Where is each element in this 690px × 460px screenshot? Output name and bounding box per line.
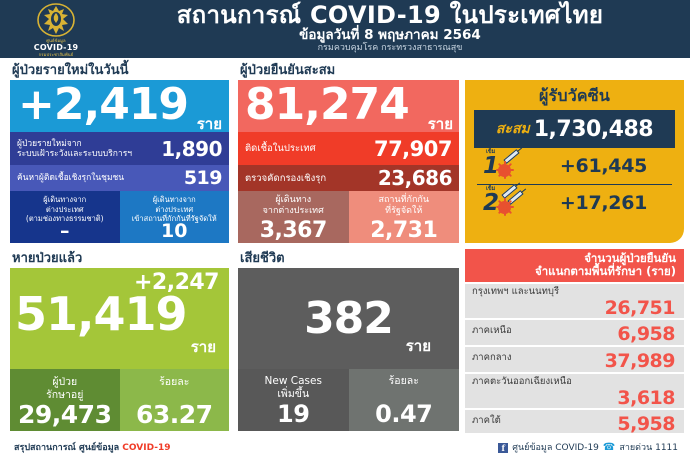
footer-facebook-text[interactable]: ศูนย์ข้อมูล COVID-19 xyxy=(512,442,599,454)
syringe-dose-2-icon: เข็ม 2 xyxy=(477,186,535,220)
new-cases-row-surveillance: ผู้ป่วยรายใหม่จาก ระบบเฝ้าระวังและระบบบร… xyxy=(10,132,229,165)
cumulative-cell-from-abroad-value: 3,367 xyxy=(238,220,349,242)
logo-line-2: COVID-19 xyxy=(34,43,78,52)
regional-breakdown-table: จำนวนผู้ป่วยยืนยัน จำแนกตามพื้นที่รักษา … xyxy=(465,249,684,433)
regional-table-header: จำนวนผู้ป่วยยืนยัน จำแนกตามพื้นที่รักษา … xyxy=(465,249,684,282)
table-row: ภาคกลาง 37,989 xyxy=(465,347,684,372)
new-cases-row-active-search: ค้นหาผู้ติดเชื้อเชิงรุกในชุมชน 519 xyxy=(10,165,229,191)
vaccine-dose-2-amount: +17,261 xyxy=(535,192,672,214)
label-line-1: New Cases xyxy=(238,375,349,388)
label-line-1: ผู้เดินทางจาก xyxy=(10,195,120,205)
cell-label: New Cases เพิ่มขึ้น xyxy=(238,375,349,400)
new-cases-row-surveillance-value: 1,890 xyxy=(161,137,222,161)
cumulative-row-domestic-label: ติดเชื้อในประเทศ xyxy=(245,143,374,154)
footer-summary-brand: COVID-19 xyxy=(122,443,170,453)
vaccine-dose-1-amount: +61,445 xyxy=(535,155,672,177)
cell-label: ร้อยละ xyxy=(120,376,230,389)
region-name: ภาคเหนือ xyxy=(472,325,512,336)
footer-contacts: f ศูนย์ข้อมูล COVID-19 ☎ สายด่วน 1111 xyxy=(498,442,678,454)
footer-summary-label: สรุปสถานการณ์ ศูนย์ข้อมูล xyxy=(14,443,122,453)
table-row: กรุงเทพฯ และนนทบุรี 26,751 xyxy=(465,284,684,318)
virus-glyph xyxy=(498,201,511,214)
vaccine-dose-2-row: เข็ม 2 +17,261 xyxy=(477,184,672,220)
facebook-icon[interactable]: f xyxy=(498,443,508,453)
deaths-cell-new-cases-value: 19 xyxy=(238,402,349,427)
recovered-cell-under-treatment-value: 29,473 xyxy=(10,402,120,428)
section-label-deaths: เสียชีวิต xyxy=(240,251,285,266)
section-label-recovered: หายป่วยแล้ว xyxy=(12,251,82,266)
new-cases-cell-natural-border-value: – xyxy=(10,221,120,241)
cumulative-row-active-screening: ตรวจคัดกรองเชิงรุก 23,686 xyxy=(238,165,459,191)
label-line-2: เพิ่มขึ้น xyxy=(238,388,349,401)
vaccine-dose-1-row: เข็ม 1 +61,445 xyxy=(477,148,672,184)
report-date: ข้อมูลวันที่ 8 พฤษภาคม 2564 xyxy=(100,28,680,43)
deaths-cell-percent: ร้อยละ 0.47 xyxy=(349,369,460,431)
phone-icon: ☎ xyxy=(603,442,615,454)
page-title: สถานการณ์ COVID-19 ในประเทศไทย xyxy=(100,2,680,29)
cumulative-cell-state-quarantine-value: 2,731 xyxy=(349,220,460,242)
region-name: ภาคตะวันออกเฉียงเหนือ xyxy=(472,376,675,387)
table-row: ภาคใต้ 5,958 xyxy=(465,410,684,433)
label-line-1: ผู้เดินทาง xyxy=(238,195,349,206)
recovered-headline: +2,247 51,419 ราย xyxy=(10,268,229,369)
cell-label: ผู้เดินทาง จากต่างประเทศ xyxy=(238,195,349,217)
label-line-1: ผู้ป่วยรายใหม่จาก xyxy=(17,139,161,149)
garuda-emblem-icon xyxy=(35,2,78,37)
new-cases-cell-natural-border: ผู้เดินทางจาก ต่างประเทศ (ตามช่องทางธรรม… xyxy=(10,191,120,243)
dose-2-number: 2 xyxy=(483,192,499,215)
recovered-cell-percent-value: 63.27 xyxy=(120,402,230,428)
new-cases-panel: +2,419 ราย ผู้ป่วยรายใหม่จาก ระบบเฝ้าระว… xyxy=(10,80,229,243)
footer-bar: สรุปสถานการณ์ ศูนย์ข้อมูล COVID-19 f ศูน… xyxy=(0,437,690,460)
label-line-1: สถานที่กักกัน xyxy=(349,195,460,206)
recovered-total: 51,419 xyxy=(15,289,187,339)
new-cases-row-active-search-label: ค้นหาผู้ติดเชื้อเชิงรุกในชุมชน xyxy=(17,173,184,183)
recovered-unit: ราย xyxy=(191,335,216,359)
deaths-sub-cells: New Cases เพิ่มขึ้น 19 ร้อยละ 0.47 xyxy=(238,369,459,431)
vaccine-cumulative-label: สะสม xyxy=(496,118,530,140)
recovered-sub-cells: ผู้ป่วย รักษาอยู่ 29,473 ร้อยละ 63.27 xyxy=(10,369,229,431)
regional-table-header-line-2: จำแนกตามพื้นที่รักษา (ราย) xyxy=(473,265,676,278)
region-name: ภาคใต้ xyxy=(472,415,501,426)
recovered-panel: +2,247 51,419 ราย ผู้ป่วย รักษาอยู่ 29,4… xyxy=(10,268,229,431)
new-cases-sub-cells: ผู้เดินทางจาก ต่างประเทศ (ตามช่องทางธรรม… xyxy=(10,191,229,243)
deaths-cell-percent-value: 0.47 xyxy=(349,402,460,427)
deaths-panel: 382 ราย New Cases เพิ่มขึ้น 19 ร้อยละ 0.… xyxy=(238,268,459,431)
cumulative-cases-panel: 81,274 ราย ติดเชื้อในประเทศ 77,907 ตรวจค… xyxy=(238,80,459,243)
vaccine-cumulative-box: สะสม 1,730,488 xyxy=(474,110,675,148)
agency-logo: ศูนย์ข้อมูล COVID-19 กรมประชาสัมพันธ์ xyxy=(12,1,100,57)
section-label-cumulative: ผู้ป่วยยืนยันสะสม xyxy=(240,63,335,78)
label-line-1: ผู้เดินทางจาก xyxy=(120,195,230,205)
deaths-headline: 382 ราย xyxy=(238,268,459,369)
region-value: 26,751 xyxy=(605,298,675,318)
footer-summary-text: สรุปสถานการณ์ ศูนย์ข้อมูล COVID-19 xyxy=(14,442,171,454)
new-cases-cell-state-quarantine: ผู้เดินทางจาก ต่างประเทศ เข้าสถานที่กักก… xyxy=(120,191,230,243)
new-cases-row-active-search-value: 519 xyxy=(184,167,222,189)
cumulative-row-active-screening-label: ตรวจคัดกรองเชิงรุก xyxy=(245,173,378,184)
cumulative-headline: 81,274 ราย xyxy=(238,80,459,132)
logo-line-3: กรมประชาสัมพันธ์ xyxy=(39,52,74,57)
department-name: กรมควบคุมโรค กระทรวงสาธารณสุข xyxy=(100,43,680,54)
new-cases-headline: +2,419 ราย xyxy=(10,80,229,132)
syringe-dose-1-icon: เข็ม 1 xyxy=(477,149,535,183)
new-cases-cell-state-quarantine-value: 10 xyxy=(120,221,230,241)
recovered-cell-percent: ร้อยละ 63.27 xyxy=(120,369,230,431)
cumulative-unit: ราย xyxy=(428,116,453,132)
cumulative-row-domestic-value: 77,907 xyxy=(374,137,452,161)
region-value: 5,958 xyxy=(617,414,675,433)
table-row: ภาคเหนือ 6,958 xyxy=(465,320,684,345)
label-line-2: จากต่างประเทศ xyxy=(238,206,349,217)
vaccine-title: ผู้รับวัคซีน xyxy=(465,80,684,105)
cell-label: ร้อยละ xyxy=(349,375,460,388)
label-line-1: ผู้ป่วย xyxy=(10,376,120,389)
label-line-2: ต่างประเทศ xyxy=(120,205,230,215)
virus-glyph xyxy=(498,164,511,177)
header-titles: สถานการณ์ COVID-19 ในประเทศไทย ข้อมูลวัน… xyxy=(100,2,680,54)
label-line-2: ที่รัฐจัดให้ xyxy=(349,206,460,217)
recovered-cell-under-treatment: ผู้ป่วย รักษาอยู่ 29,473 xyxy=(10,369,120,431)
region-value: 6,958 xyxy=(617,324,675,344)
new-cases-unit: ราย xyxy=(197,116,222,132)
region-name: กรุงเทพฯ และนนทบุรี xyxy=(472,286,675,297)
deaths-unit: ราย xyxy=(406,334,431,358)
vaccine-panel: ผู้รับวัคซีน สะสม 1,730,488 เข็ม 1 +61,4… xyxy=(465,80,684,243)
dose-1-number: 1 xyxy=(483,155,499,178)
cumulative-cell-from-abroad: ผู้เดินทาง จากต่างประเทศ 3,367 xyxy=(238,191,349,243)
cumulative-row-domestic: ติดเชื้อในประเทศ 77,907 xyxy=(238,132,459,165)
deaths-cell-new-cases: New Cases เพิ่มขึ้น 19 xyxy=(238,369,349,431)
vaccine-cumulative-value: 1,730,488 xyxy=(534,117,653,142)
cell-label: สถานที่กักกัน ที่รัฐจัดให้ xyxy=(349,195,460,217)
header-bar: ศูนย์ข้อมูล COVID-19 กรมประชาสัมพันธ์ สถ… xyxy=(0,0,690,58)
cumulative-total: 81,274 xyxy=(245,80,409,131)
new-cases-row-surveillance-label: ผู้ป่วยรายใหม่จาก ระบบเฝ้าระวังและระบบบร… xyxy=(17,139,161,159)
section-label-new-cases: ผู้ป่วยรายใหม่ในวันนี้ xyxy=(12,63,128,78)
new-cases-total: +2,419 xyxy=(18,80,188,131)
region-name: ภาคกลาง xyxy=(472,352,512,363)
cumulative-cell-state-quarantine: สถานที่กักกัน ที่รัฐจัดให้ 2,731 xyxy=(349,191,460,243)
label-line-2: ต่างประเทศ xyxy=(10,205,120,215)
cumulative-row-active-screening-value: 23,686 xyxy=(378,166,452,190)
footer-hotline-text: สายด่วน 1111 xyxy=(619,442,678,454)
region-value: 3,618 xyxy=(617,388,675,408)
label-line-2: ระบบเฝ้าระวังและระบบบริการฯ xyxy=(17,149,161,159)
cumulative-sub-cells: ผู้เดินทาง จากต่างประเทศ 3,367 สถานที่กั… xyxy=(238,191,459,243)
cell-label: ผู้ป่วย รักษาอยู่ xyxy=(10,376,120,401)
region-value: 37,989 xyxy=(605,351,675,371)
infographic-sheet: ศูนย์ข้อมูล COVID-19 กรมประชาสัมพันธ์ สถ… xyxy=(0,0,690,460)
table-row: ภาคตะวันออกเฉียงเหนือ 3,618 xyxy=(465,374,684,408)
